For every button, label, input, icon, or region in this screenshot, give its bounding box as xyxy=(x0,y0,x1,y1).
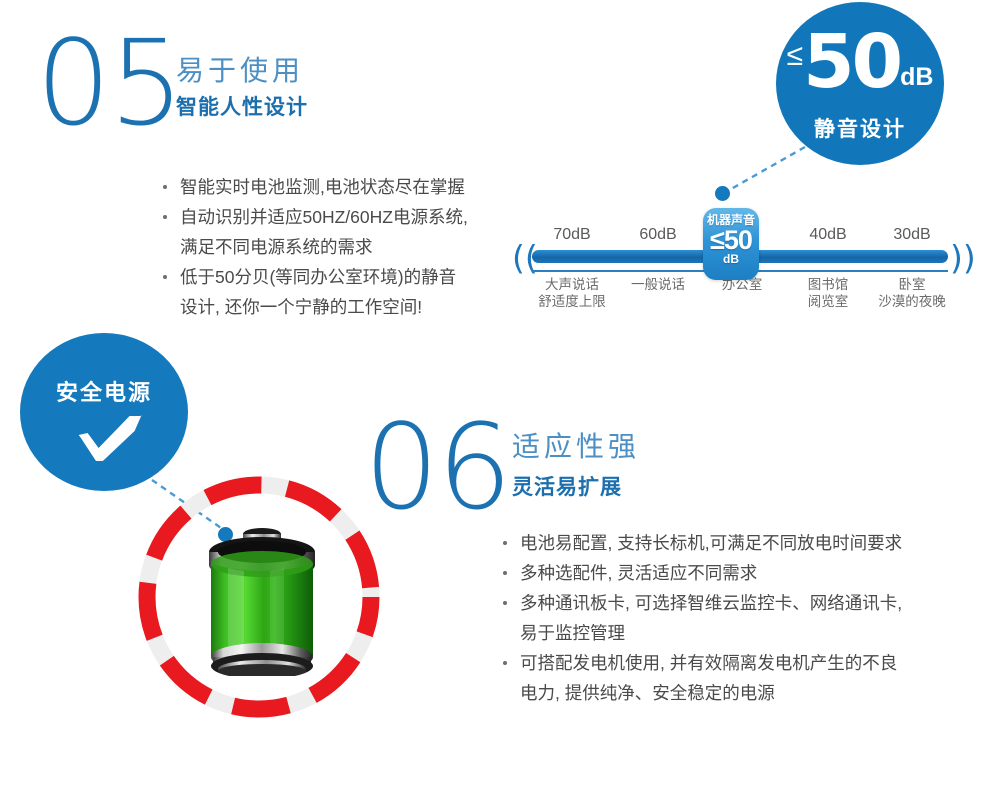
section-subtitle-05: 智能人性设计 xyxy=(176,96,308,119)
scale-tick-value: 70dB xyxy=(522,226,622,244)
scale-tick-value: 30dB xyxy=(862,226,962,244)
check-mark-icon xyxy=(78,413,144,461)
list-item: 自动识别并适应50HZ/60HZ电源系统, xyxy=(160,202,468,232)
section-05-bullet-list: 智能实时电池监测,电池状态尽在掌握 自动识别并适应50HZ/60HZ电源系统, … xyxy=(160,172,468,322)
list-item: 多种选配件, 灵活适应不同需求 xyxy=(500,558,902,588)
section-title-05: 易于使用 xyxy=(176,56,304,87)
sound-level-scale: (( )) 70dB 60dB 40dB 30dB 大声说话 舒适度上限 一般说… xyxy=(510,188,980,318)
list-item: 可搭配发电机使用, 并有效隔离发电机产生的不良 xyxy=(500,648,902,678)
safe-power-caption: 安全电源 xyxy=(20,375,188,407)
scale-tick-label: 卧室 沙漠的夜晚 xyxy=(862,276,962,310)
infographic-page: 05 易于使用 智能人性设计 智能实时电池监测,电池状态尽在掌握 自动识别并适应… xyxy=(0,0,990,808)
list-item: 电力, 提供纯净、安全稳定的电源 xyxy=(500,678,902,708)
quiet-design-badge-circle: ≤50dB 静音设计 xyxy=(776,2,944,165)
list-item: 易于监控管理 xyxy=(500,618,902,648)
section-subtitle-06: 灵活易扩展 xyxy=(512,476,622,499)
battery-illustration xyxy=(134,472,384,722)
list-item: 多种通讯板卡, 可选择智维云监控卡、网络通讯卡, xyxy=(500,588,902,618)
section-number-06: 06 xyxy=(364,408,510,526)
quiet-design-caption: 静音设计 xyxy=(776,113,944,143)
db-unit: dB xyxy=(900,63,933,91)
scale-tick-value: 60dB xyxy=(608,226,708,244)
machine-sound-badge: 机器声音 ≤50 dB xyxy=(703,208,759,280)
db-value-row: ≤50dB xyxy=(776,19,944,105)
section-06-bullet-list: 电池易配置, 支持长标机,可满足不同放电时间要求 多种选配件, 灵活适应不同需求… xyxy=(500,528,902,708)
scale-tick-label-line2: 沙漠的夜晚 xyxy=(862,293,962,310)
less-equal-symbol: ≤ xyxy=(787,39,803,72)
section-title-06: 适应性强 xyxy=(512,432,640,463)
scale-tick-label-line2: 舒适度上限 xyxy=(522,293,622,310)
list-item: 低于50分贝(等同办公室环境)的静音 xyxy=(160,262,468,292)
section-number-05: 05 xyxy=(36,24,182,142)
list-item: 智能实时电池监测,电池状态尽在掌握 xyxy=(160,172,468,202)
sound-wave-right-icon: )) xyxy=(950,241,976,274)
list-item: 电池易配置, 支持长标机,可满足不同放电时间要求 xyxy=(500,528,902,558)
scale-tick-label: 大声说话 舒适度上限 xyxy=(522,276,622,310)
machine-sound-value: ≤50 xyxy=(703,227,759,253)
db-number: 50 xyxy=(803,19,900,105)
scale-tick-label-line1: 大声说话 xyxy=(522,276,622,293)
battery-icon xyxy=(200,524,324,676)
list-item: 设计, 还你一个宁静的工作空间! xyxy=(160,292,468,322)
safe-power-badge-circle: 安全电源 xyxy=(20,333,188,491)
list-item: 满足不同电源系统的需求 xyxy=(160,232,468,262)
scale-tick-label-line1: 卧室 xyxy=(862,276,962,293)
